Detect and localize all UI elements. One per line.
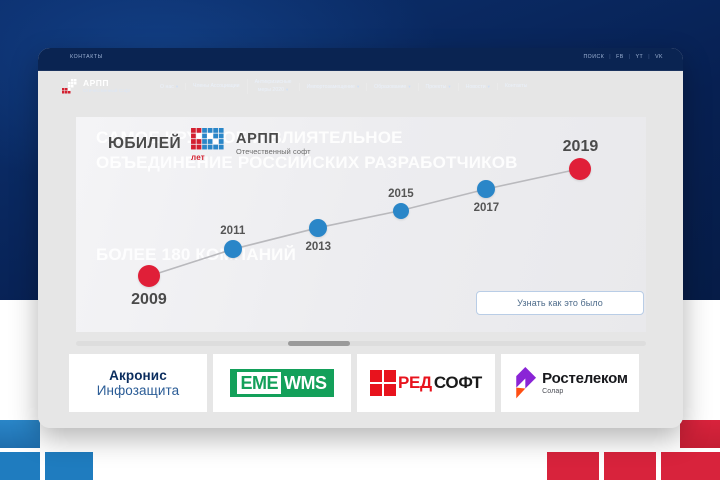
nav-label: Контакты xyxy=(505,83,527,89)
jubilee-word: ЮБИЛЕЙ xyxy=(108,135,181,153)
nav-item-education[interactable]: Образование▾ xyxy=(366,83,417,91)
emewms-line-1: EME xyxy=(237,372,281,394)
chevron-down-icon: ▾ xyxy=(286,86,288,93)
main-navigation: О нас▾ Члены Ассоциации Антикризисные ме… xyxy=(153,79,667,94)
utility-contacts-link[interactable]: КОНТАКТЫ xyxy=(70,54,103,60)
utility-separator-3: | xyxy=(648,54,650,60)
utility-right-group: поиск | FB | YT | VK xyxy=(583,54,663,60)
partner-card-acronis[interactable]: Акронис Инфозащита xyxy=(69,354,207,412)
rostelecom-line-1: Ростелеком xyxy=(542,371,628,387)
nav-item-import-substitution[interactable]: Импортозамещение▾ xyxy=(299,83,367,91)
site-utility-bar: КОНТАКТЫ поиск | FB | YT | VK xyxy=(38,48,683,71)
browser-window-mockup: КОНТАКТЫ поиск | FB | YT | VK xyxy=(38,48,683,428)
nav-item-contacts[interactable]: Контакты xyxy=(497,83,534,90)
nav-item-anticrisis[interactable]: Антикризисные меры 2020▾ xyxy=(247,79,299,94)
redsoft-line-2: СОФТ xyxy=(434,373,482,393)
site-logo-name: АРПП xyxy=(83,79,131,88)
nav-label: Образование xyxy=(374,84,406,90)
nav-item-news[interactable]: Новости▾ xyxy=(458,83,497,91)
deco-square-blue-2 xyxy=(0,452,40,480)
timeline-dot-2015 xyxy=(393,203,409,219)
nav-item-about[interactable]: О нас▾ xyxy=(153,83,185,91)
utility-separator-1: | xyxy=(609,54,611,60)
carousel-scrollbar[interactable] xyxy=(76,341,646,346)
social-link-yt[interactable]: YT xyxy=(636,54,644,60)
site-logo-tagline: Отечественный Софт xyxy=(83,88,131,94)
chevron-down-icon: ▾ xyxy=(448,83,450,90)
acronis-line-2: Инфозащита xyxy=(97,383,180,398)
chevron-down-icon: ▾ xyxy=(408,83,410,90)
timeline-dot-2017 xyxy=(477,180,495,198)
nav-item-members[interactable]: Члены Ассоциации xyxy=(185,83,247,90)
redsoft-line-1: РЕД xyxy=(398,373,432,393)
carousel-scrollbar-thumb[interactable] xyxy=(288,341,350,346)
site-logo[interactable]: АРПП Отечественный Софт xyxy=(62,79,131,94)
partner-card-redsoft[interactable]: РЕД СОФТ xyxy=(357,354,495,412)
jubilee-lockup: ЮБИЛЕЙ xyxy=(108,128,311,160)
timeline-dot-2019 xyxy=(569,158,591,180)
redsoft-squares-icon xyxy=(370,370,396,396)
rostelecom-text: Ростелеком Солар xyxy=(542,371,628,396)
rostelecom-line-2: Солар xyxy=(542,387,628,396)
nav-item-projects[interactable]: Проекты▾ xyxy=(418,83,458,91)
chevron-down-icon: ▾ xyxy=(176,83,178,90)
hero-ghost-subline: БОЛЕЕ 180 КОМПАНИЙ xyxy=(96,245,296,265)
timeline-label-2011: 2011 xyxy=(220,225,245,237)
deco-square-blue-1 xyxy=(0,420,40,448)
hero-assoc-name: АРПП xyxy=(236,131,311,147)
deco-square-red-2 xyxy=(547,452,599,480)
acronis-logo: Акронис Инфозащита xyxy=(97,368,180,398)
partner-logo-row: Акронис Инфозащита EME WMS РЕ xyxy=(69,354,654,412)
timeline-label-2017: 2017 xyxy=(474,202,500,214)
emewms-line-2: WMS xyxy=(284,373,327,393)
search-link[interactable]: поиск xyxy=(583,54,604,60)
presentation-stage: КОНТАКТЫ поиск | FB | YT | VK xyxy=(0,0,720,480)
nav-label: Члены Ассоциации xyxy=(193,83,240,89)
arpp-anniversary-logo-icon: лет xyxy=(190,128,227,160)
nav-label: Импортозамещение xyxy=(307,84,355,90)
nav-label: О нас xyxy=(160,84,174,90)
utility-separator-2: | xyxy=(629,54,631,60)
hero-assoc-tagline: Отечественный софт xyxy=(236,147,311,157)
deco-square-red-1 xyxy=(680,420,720,448)
page-body: САМОЕ КРУПНОЕ И ВЛИЯТЕЛЬНОЕ ОБЪЕДИНЕНИЕ … xyxy=(38,102,683,428)
social-link-fb[interactable]: FB xyxy=(616,54,624,60)
emewms-logo: EME WMS xyxy=(230,369,333,397)
rostelecom-mark-icon xyxy=(512,367,537,399)
chevron-down-icon: ▾ xyxy=(357,83,359,90)
timeline-label-2019: 2019 xyxy=(563,138,599,156)
site-navbar: АРПП Отечественный Софт О нас▾ Члены Асс… xyxy=(38,71,683,102)
timeline-dot-2009 xyxy=(138,265,160,287)
chevron-down-icon: ▾ xyxy=(488,83,490,90)
jubilee-years-label: лет xyxy=(191,153,205,162)
timeline-dot-2013 xyxy=(309,219,327,237)
deco-square-blue-3 xyxy=(45,452,93,480)
deco-square-red-4 xyxy=(661,452,720,480)
timeline-label-2015: 2015 xyxy=(388,188,414,200)
partner-card-rostelecom[interactable]: Ростелеком Солар xyxy=(501,354,639,412)
redsoft-logo: РЕД СОФТ xyxy=(370,370,482,396)
nav-label: Проекты xyxy=(426,84,447,90)
rostelecom-logo: Ростелеком Солар xyxy=(512,367,628,399)
hero-assoc-name-block: АРПП Отечественный софт xyxy=(236,131,311,157)
hero-slide: САМОЕ КРУПНОЕ И ВЛИЯТЕЛЬНОЕ ОБЪЕДИНЕНИЕ … xyxy=(76,117,646,332)
hero-cta-button[interactable]: Узнать как это было xyxy=(476,291,644,315)
site-logo-text: АРПП Отечественный Софт xyxy=(83,79,131,94)
timeline-label-2013: 2013 xyxy=(305,241,331,253)
timeline-label-2009: 2009 xyxy=(131,291,167,309)
nav-label: Новости xyxy=(466,84,486,90)
social-link-vk[interactable]: VK xyxy=(655,54,663,60)
deco-square-red-3 xyxy=(604,452,656,480)
partner-card-emewms[interactable]: EME WMS xyxy=(213,354,351,412)
acronis-line-1: Акронис xyxy=(97,368,180,383)
arpp-pixel-logo-icon xyxy=(62,79,79,94)
